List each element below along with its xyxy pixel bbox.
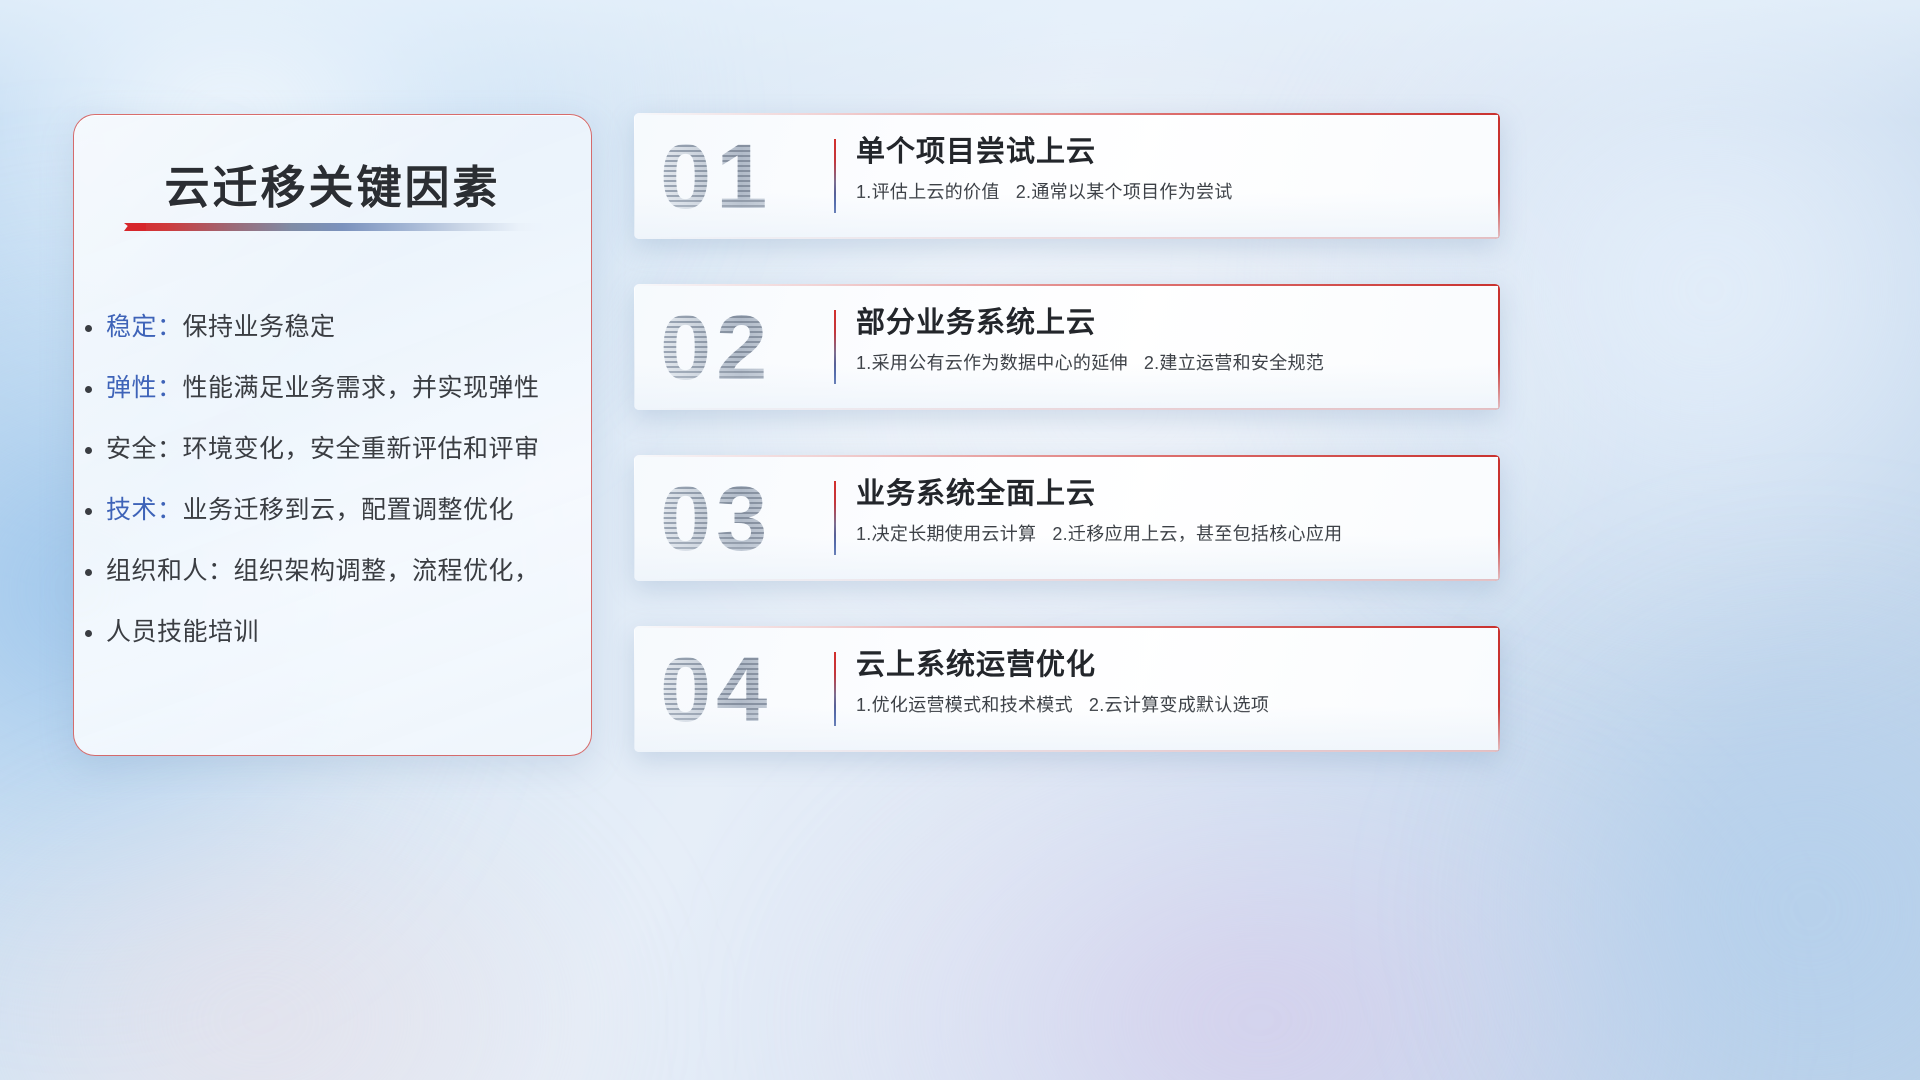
card-top-accent xyxy=(634,455,1500,457)
card-bottom-accent xyxy=(634,237,1500,239)
key-factors-panel: 云迁移关键因素 稳定：保持业务稳定 弹性：性能满足业务需求，并实现弹性 安全：环… xyxy=(73,114,592,756)
step-number: 04 xyxy=(660,638,840,742)
list-item-text: 性能满足业务需求，并实现弹性 xyxy=(183,374,540,402)
step-subtitle-part2: 2.通常以某个项目作为尝试 xyxy=(1016,182,1233,202)
card-left-highlight xyxy=(634,626,635,752)
panel-title: 云迁移关键因素 xyxy=(74,151,591,216)
card-right-accent xyxy=(1498,626,1500,752)
list-item-label: 组织和人： xyxy=(106,557,234,585)
card-right-accent xyxy=(1498,113,1500,239)
step-card[interactable]: 02 部分业务系统上云 1.采用公有云作为数据中心的延伸2.建立运营和安全规范 xyxy=(634,284,1500,410)
card-left-highlight xyxy=(634,455,635,581)
list-item: 组织和人：组织架构调整，流程优化， xyxy=(106,541,567,602)
step-subtitle-part1: 1.采用公有云作为数据中心的延伸 xyxy=(856,353,1128,373)
key-factors-list: 稳定：保持业务稳定 弹性：性能满足业务需求，并实现弹性 安全：环境变化，安全重新… xyxy=(106,297,567,663)
step-divider-bar xyxy=(834,310,836,384)
list-item: 弹性：性能满足业务需求，并实现弹性 xyxy=(106,358,567,419)
background-top-fade xyxy=(0,0,1920,120)
list-item-text: 业务迁移到云，配置调整优化 xyxy=(183,496,515,524)
step-subtitle-part1: 1.优化运营模式和技术模式 xyxy=(856,695,1073,715)
card-right-accent xyxy=(1498,455,1500,581)
list-item-label: 弹性： xyxy=(106,374,183,402)
step-title: 业务系统全面上云 xyxy=(856,471,1470,517)
card-bottom-accent xyxy=(634,408,1500,410)
step-body: 部分业务系统上云 1.采用公有云作为数据中心的延伸2.建立运营和安全规范 xyxy=(856,300,1470,380)
step-card[interactable]: 01 单个项目尝试上云 1.评估上云的价值2.通常以某个项目作为尝试 xyxy=(634,113,1500,239)
step-divider-bar xyxy=(834,652,836,726)
card-left-highlight xyxy=(634,284,635,410)
list-item-label: 技术： xyxy=(106,496,183,524)
step-title: 单个项目尝试上云 xyxy=(856,129,1470,175)
card-right-accent xyxy=(1498,284,1500,410)
step-subtitle-part2: 2.云计算变成默认选项 xyxy=(1089,695,1269,715)
list-item-continuation: 人员技能培训 xyxy=(106,602,567,663)
card-top-accent xyxy=(634,113,1500,115)
step-title: 云上系统运营优化 xyxy=(856,642,1470,688)
title-underline-gradient xyxy=(124,221,544,233)
list-item: 安全：环境变化，安全重新评估和评审 xyxy=(106,419,567,480)
step-subtitle-part2: 2.建立运营和安全规范 xyxy=(1144,353,1324,373)
step-subtitle: 1.决定长期使用云计算2.迁移应用上云，甚至包括核心应用 xyxy=(856,517,1470,551)
card-top-accent xyxy=(634,284,1500,286)
step-body: 单个项目尝试上云 1.评估上云的价值2.通常以某个项目作为尝试 xyxy=(856,129,1470,209)
step-number: 03 xyxy=(660,467,840,571)
step-subtitle-part2: 2.迁移应用上云，甚至包括核心应用 xyxy=(1052,524,1342,544)
step-body: 云上系统运营优化 1.优化运营模式和技术模式2.云计算变成默认选项 xyxy=(856,642,1470,722)
card-left-highlight xyxy=(634,113,635,239)
step-card[interactable]: 04 云上系统运营优化 1.优化运营模式和技术模式2.云计算变成默认选项 xyxy=(634,626,1500,752)
list-item: 技术：业务迁移到云，配置调整优化 xyxy=(106,480,567,541)
step-subtitle-part1: 1.评估上云的价值 xyxy=(856,182,1000,202)
step-title: 部分业务系统上云 xyxy=(856,300,1470,346)
list-item-text: 组织架构调整，流程优化， xyxy=(234,557,540,585)
migration-steps-list: 01 单个项目尝试上云 1.评估上云的价值2.通常以某个项目作为尝试 02 部分… xyxy=(634,113,1500,797)
card-bottom-accent xyxy=(634,579,1500,581)
list-item-label: 安全： xyxy=(106,435,183,463)
step-card[interactable]: 03 业务系统全面上云 1.决定长期使用云计算2.迁移应用上云，甚至包括核心应用 xyxy=(634,455,1500,581)
step-number: 02 xyxy=(660,296,840,400)
card-top-accent xyxy=(634,626,1500,628)
underline-bar xyxy=(124,223,544,231)
list-item-text: 保持业务稳定 xyxy=(183,313,336,341)
step-subtitle: 1.采用公有云作为数据中心的延伸2.建立运营和安全规范 xyxy=(856,346,1470,380)
step-divider-bar xyxy=(834,139,836,213)
list-item-text: 环境变化，安全重新评估和评审 xyxy=(183,435,540,463)
list-item: 稳定：保持业务稳定 xyxy=(106,297,567,358)
step-divider-bar xyxy=(834,481,836,555)
step-number: 01 xyxy=(660,125,840,229)
card-bottom-accent xyxy=(634,750,1500,752)
step-body: 业务系统全面上云 1.决定长期使用云计算2.迁移应用上云，甚至包括核心应用 xyxy=(856,471,1470,551)
step-subtitle-part1: 1.决定长期使用云计算 xyxy=(856,524,1036,544)
step-subtitle: 1.优化运营模式和技术模式2.云计算变成默认选项 xyxy=(856,688,1470,722)
list-item-label: 稳定： xyxy=(106,313,183,341)
step-subtitle: 1.评估上云的价值2.通常以某个项目作为尝试 xyxy=(856,175,1470,209)
